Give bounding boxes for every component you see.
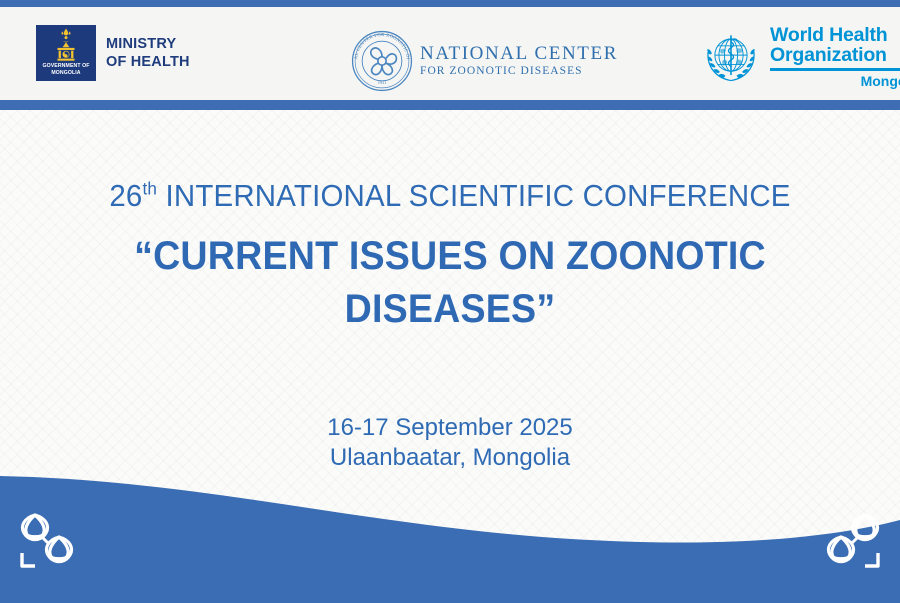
emblem-caption-line-2: MONGOLIA: [36, 70, 96, 76]
logo-ministry-of-health: GOVERNMENT OF MONGOLIA MINISTRY OF HEALT…: [36, 25, 190, 81]
logo-national-center-for-zoonotic-diseases: NATIONAL CENTER FOR ZOONOTIC DISEASES 19…: [350, 29, 618, 93]
ulzii-knot-ornament-right: [812, 509, 886, 575]
who-wordmark: World Health Organization Mongolia: [770, 25, 900, 89]
conference-number: 26: [109, 178, 142, 213]
ministry-name-line-2: OF HEALTH: [106, 53, 190, 71]
logo-world-health-organization: World Health Organization Mongolia: [700, 25, 900, 89]
bottom-wave-decoration: [0, 458, 900, 603]
nczd-name-line-1: NATIONAL CENTER: [420, 44, 618, 64]
who-divider-rule: [770, 68, 900, 71]
who-country-label: Mongolia: [770, 73, 900, 89]
soyombo-symbol-icon: [36, 27, 96, 63]
nczd-seal-icon: NATIONAL CENTER FOR ZOONOTIC DISEASES 19…: [350, 29, 414, 93]
conference-title-text: INTERNATIONAL SCIENTIFIC CONFERENCE: [157, 178, 791, 213]
header-separator-bar: [0, 100, 900, 110]
conference-number-line: 26th INTERNATIONAL SCIENTIFIC CONFERENCE: [23, 176, 878, 216]
sponsor-logo-row: GOVERNMENT OF MONGOLIA MINISTRY OF HEALT…: [0, 7, 900, 100]
svg-text:NATIONAL CENTER FOR ZOONOTIC D: NATIONAL CENTER FOR ZOONOTIC DISEASES: [350, 29, 411, 60]
who-name-line-1: World Health: [770, 25, 900, 45]
nczd-wordmark: NATIONAL CENTER FOR ZOONOTIC DISEASES: [420, 44, 618, 78]
mongolia-state-emblem-icon: GOVERNMENT OF MONGOLIA: [36, 25, 96, 81]
bottom-accent-bar: [0, 593, 900, 603]
top-accent-bar: [0, 0, 900, 7]
wave-shape-blue: [0, 476, 900, 603]
conference-title-slide: GOVERNMENT OF MONGOLIA MINISTRY OF HEALT…: [0, 0, 900, 603]
conference-theme-line-2: DISEASES”: [27, 283, 873, 335]
ministry-name-line-1: MINISTRY: [106, 35, 190, 53]
conference-ordinal-suffix: th: [142, 179, 157, 199]
ministry-of-health-wordmark: MINISTRY OF HEALTH: [106, 35, 190, 71]
nczd-name-line-2: FOR ZOONOTIC DISEASES: [420, 64, 618, 78]
svg-text:1931: 1931: [378, 80, 386, 85]
conference-theme-line-1: “CURRENT ISSUES ON ZOONOTIC: [27, 230, 873, 282]
ulzii-knot-ornament-left: [14, 509, 88, 575]
who-emblem-icon: [700, 26, 762, 88]
who-name-line-2: Organization: [770, 45, 900, 65]
conference-date: 16-17 September 2025: [0, 412, 900, 444]
emblem-caption-line-1: GOVERNMENT OF: [36, 63, 96, 69]
